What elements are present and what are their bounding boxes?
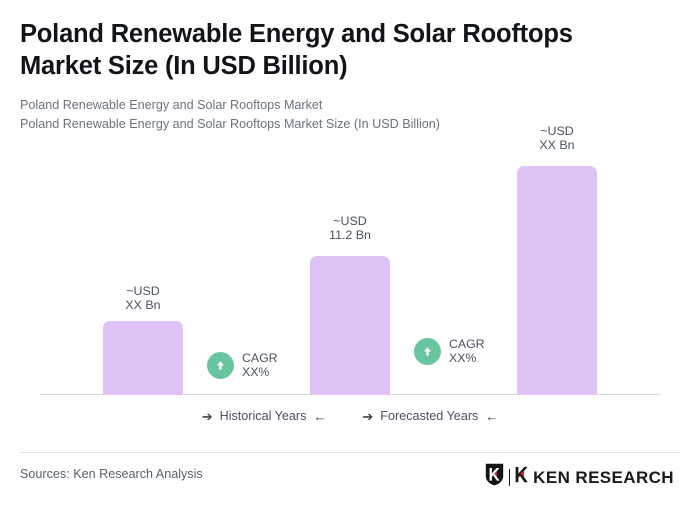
arrow-up-icon (414, 338, 441, 365)
sources-text: Sources: Ken Research Analysis (20, 466, 203, 482)
ken-research-logo: KEN RESEARCH (485, 463, 674, 491)
cagr-badge-historical[interactable]: CAGR XX% (207, 351, 278, 379)
shield-icon (485, 463, 504, 491)
arrow-right-icon: ➔ (362, 410, 373, 423)
arrow-left-icon: ← (313, 410, 326, 423)
cagr-label-group: CAGR XX% (242, 351, 278, 379)
cagr-value: XX% (242, 365, 278, 379)
cagr-badge-forecast[interactable]: CAGR XX% (414, 337, 485, 365)
logo-divider (509, 469, 511, 486)
bar-chart: ~USD XX Bn ~USD 11.2 Bn ~USD XX Bn CAGR … (0, 0, 700, 440)
period-forecasted: ➔ Forecasted Years ← (362, 409, 498, 423)
cagr-label: CAGR (242, 351, 278, 365)
cagr-label-group: CAGR XX% (449, 337, 485, 365)
bar-label-base: ~USD 11.2 Bn (310, 214, 390, 243)
bar-value-line-1: ~USD (517, 124, 597, 138)
bar-forecast[interactable] (517, 166, 597, 395)
period-label: Forecasted Years (380, 409, 478, 423)
cagr-label: CAGR (449, 337, 485, 351)
bar-value-line-1: ~USD (103, 284, 183, 298)
arrow-up-icon (207, 352, 234, 379)
logo-k-icon (515, 466, 528, 488)
bar-label-forecast: ~USD XX Bn (517, 124, 597, 153)
arrow-right-icon: ➔ (202, 410, 213, 423)
logo-text: KEN RESEARCH (533, 469, 674, 486)
period-legend: ➔ Historical Years ← ➔ Forecasted Years … (0, 409, 700, 423)
bar-historical[interactable] (103, 321, 183, 395)
bar-label-historical: ~USD XX Bn (103, 284, 183, 313)
bar-value-line-1: ~USD (310, 214, 390, 228)
chart-page: Poland Renewable Energy and Solar Roofto… (0, 0, 700, 520)
bar-value-line-2: XX Bn (103, 298, 183, 312)
footer-divider (20, 452, 680, 453)
arrow-left-icon: ← (485, 410, 498, 423)
cagr-value: XX% (449, 351, 485, 365)
bar-value-line-2: 11.2 Bn (310, 228, 390, 242)
bar-base[interactable] (310, 256, 390, 395)
bar-value-line-2: XX Bn (517, 138, 597, 152)
period-historical: ➔ Historical Years ← (202, 409, 327, 423)
period-label: Historical Years (220, 409, 307, 423)
